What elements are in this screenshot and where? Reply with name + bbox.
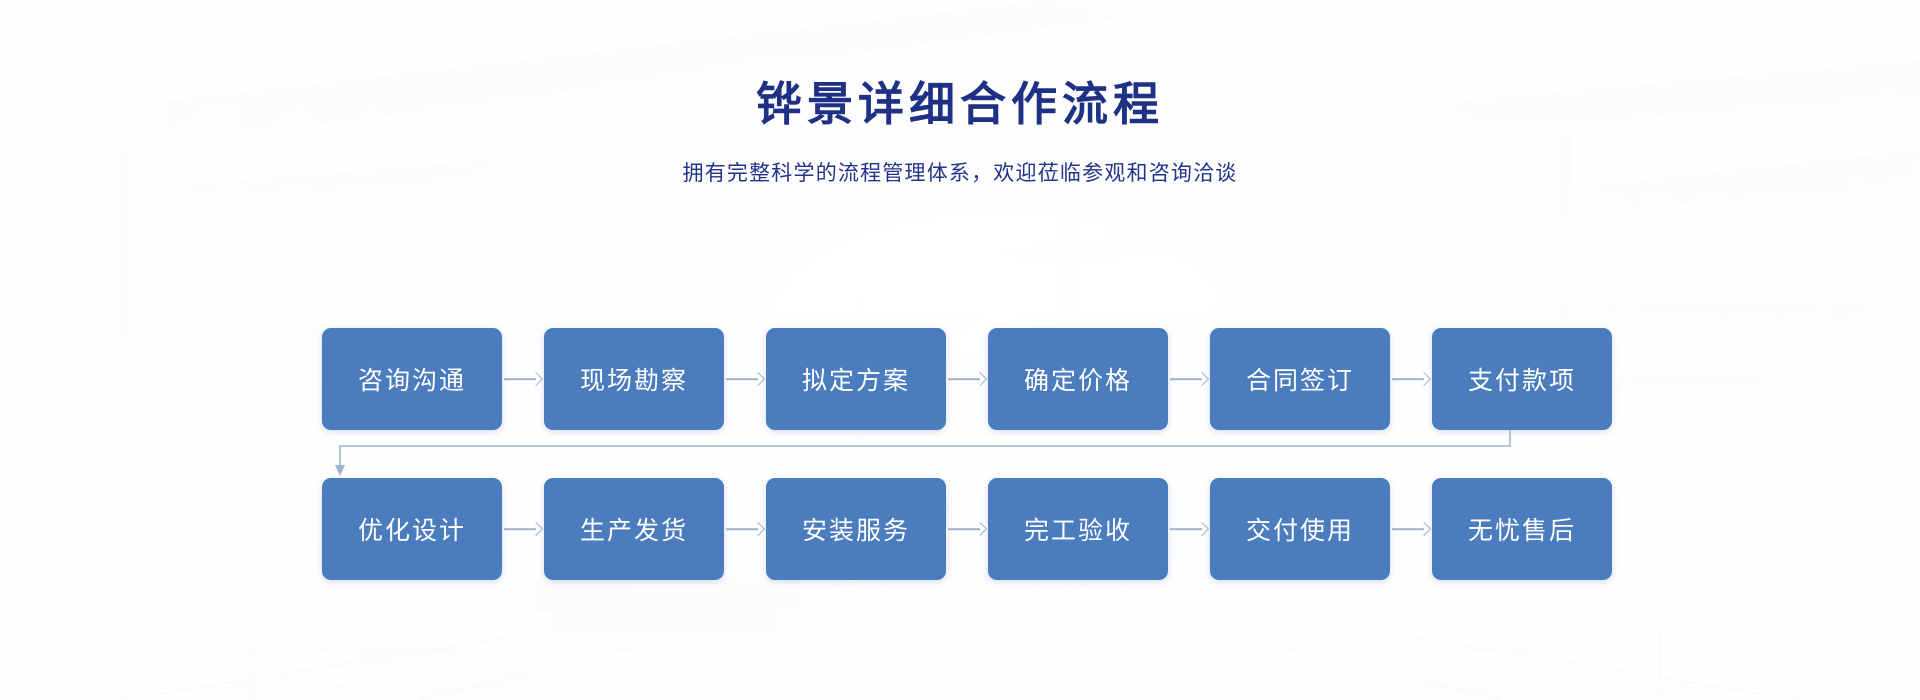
flow-node-delivery-use[interactable]: 交付使用 bbox=[1210, 478, 1390, 580]
flow-node-label: 咨询沟通 bbox=[358, 361, 466, 397]
flow-node-consultation[interactable]: 咨询沟通 bbox=[322, 328, 502, 430]
flow-node-worry-free-aftersales[interactable]: 无忧售后 bbox=[1432, 478, 1612, 580]
arrow-right-icon bbox=[1168, 522, 1210, 536]
page-title: 铧景详细合作流程 bbox=[0, 78, 1920, 131]
arrow-right-icon bbox=[1390, 522, 1432, 536]
flow-node-production-shipping[interactable]: 生产发货 bbox=[544, 478, 724, 580]
flow-node-label: 支付款项 bbox=[1468, 361, 1576, 397]
arrow-right-icon bbox=[724, 372, 766, 386]
arrow-right-icon bbox=[1168, 372, 1210, 386]
arrow-right-icon bbox=[946, 522, 988, 536]
page-subtitle: 拥有完整科学的流程管理体系，欢迎莅临参观和咨询洽谈 bbox=[0, 157, 1920, 187]
flow-node-label: 合同签订 bbox=[1246, 361, 1354, 397]
flow-row-1: 咨询沟通 现场勘察 拟定方案 确定价格 合同签订 支付款项 bbox=[322, 328, 1600, 430]
flow-node-draft-plan[interactable]: 拟定方案 bbox=[766, 328, 946, 430]
flow-node-label: 安装服务 bbox=[802, 511, 910, 547]
flow-node-label: 无忧售后 bbox=[1468, 511, 1576, 547]
flow-node-label: 拟定方案 bbox=[802, 361, 910, 397]
flow-node-label: 交付使用 bbox=[1246, 511, 1354, 547]
banner-header: 铧景详细合作流程 拥有完整科学的流程管理体系，欢迎莅临参观和咨询洽谈 bbox=[0, 0, 1920, 187]
flow-node-label: 现场勘察 bbox=[580, 361, 688, 397]
flow-node-installation-service[interactable]: 安装服务 bbox=[766, 478, 946, 580]
flow-node-confirm-price[interactable]: 确定价格 bbox=[988, 328, 1168, 430]
flow-node-completion-acceptance[interactable]: 完工验收 bbox=[988, 478, 1168, 580]
flow-node-sign-contract[interactable]: 合同签订 bbox=[1210, 328, 1390, 430]
flow-row-2: 优化设计 生产发货 安装服务 完工验收 交付使用 无忧售后 bbox=[322, 478, 1600, 580]
banner-stage: 铧景详细合作流程 拥有完整科学的流程管理体系，欢迎莅临参观和咨询洽谈 咨询沟通 … bbox=[0, 0, 1920, 700]
arrow-right-icon bbox=[502, 372, 544, 386]
flow-node-payment[interactable]: 支付款项 bbox=[1432, 328, 1612, 430]
arrow-right-icon bbox=[502, 522, 544, 536]
arrow-right-icon bbox=[724, 522, 766, 536]
flow-node-label: 优化设计 bbox=[358, 511, 466, 547]
flow-node-label: 完工验收 bbox=[1024, 511, 1132, 547]
arrow-right-icon bbox=[946, 372, 988, 386]
flow-node-label: 生产发货 bbox=[580, 511, 688, 547]
arrow-right-icon bbox=[1390, 372, 1432, 386]
process-flow-diagram: 咨询沟通 现场勘察 拟定方案 确定价格 合同签订 支付款项 bbox=[322, 328, 1600, 580]
flow-node-optimize-design[interactable]: 优化设计 bbox=[322, 478, 502, 580]
flow-node-site-survey[interactable]: 现场勘察 bbox=[544, 328, 724, 430]
flow-node-label: 确定价格 bbox=[1024, 361, 1132, 397]
